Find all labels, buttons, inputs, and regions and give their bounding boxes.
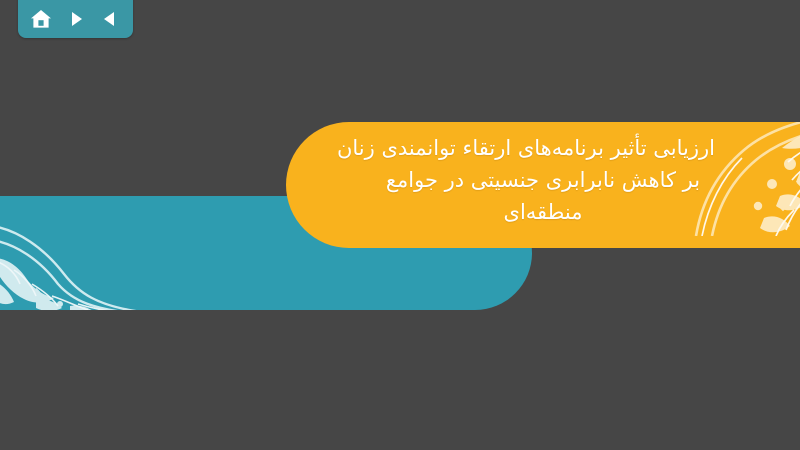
previous-arrow-icon [101,10,119,28]
home-icon [30,9,52,29]
previous-slide-button[interactable] [97,7,123,31]
presentation-slide: ارزیابی تأثیر برنامه‌های ارتقاء توانمندی… [0,0,800,450]
arabesque-ornament-orange [682,122,800,236]
title-banner [286,122,800,248]
home-button[interactable] [28,7,54,31]
next-arrow-icon [67,10,85,28]
navigation-bar [18,0,133,38]
next-slide-button[interactable] [63,7,89,31]
arabesque-ornament-teal [0,196,142,310]
